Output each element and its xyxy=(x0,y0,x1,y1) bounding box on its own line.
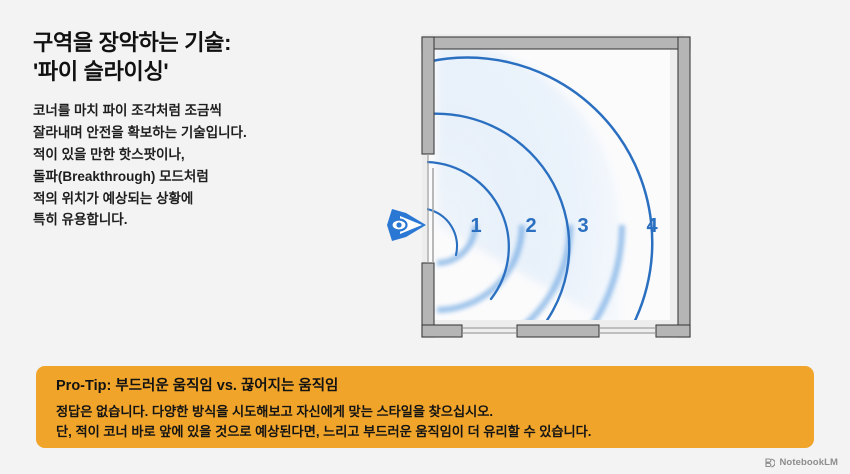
eye-pupil-icon xyxy=(396,222,401,227)
wall-bottom-right xyxy=(656,325,690,337)
pro-tip-label: Pro-Tip: xyxy=(56,378,111,394)
notebooklm-watermark: NotebookLM xyxy=(765,457,838,468)
pro-tip-body: 정답은 없습니다. 다양한 방식을 시도해보고 자신에게 맞는 스타일을 찾으십… xyxy=(56,402,794,442)
pro-tip-title: Pro-Tip: 부드러운 움직임 vs. 끊어지는 움직임 xyxy=(56,377,794,396)
wall-right xyxy=(678,37,690,337)
notebooklm-logo-icon xyxy=(765,458,775,468)
wall-bottom-left-stub xyxy=(422,325,462,337)
wall-top xyxy=(422,37,690,49)
slice-label-2: 2 xyxy=(525,215,536,237)
pie-slicing-diagram: 1 2 3 4 xyxy=(380,18,730,358)
body-paragraph: 코너를 마치 파이 조각처럼 조금씩 잘라내며 안전을 확보하는 기술입니다. … xyxy=(33,100,363,231)
notebooklm-label: NotebookLM xyxy=(779,457,838,468)
pro-tip-subject: 부드러운 움직임 vs. 끊어지는 움직임 xyxy=(111,378,338,394)
page-title: 구역을 장악하는 기술: '파이 슬라이싱' xyxy=(33,28,363,86)
slice-label-4: 4 xyxy=(646,215,658,237)
wall-bottom-center xyxy=(517,325,599,337)
slide-canvas: 구역을 장악하는 기술: '파이 슬라이싱' 코너를 마치 파이 조각처럼 조금… xyxy=(0,0,850,474)
pro-tip-banner: Pro-Tip: 부드러운 움직임 vs. 끊어지는 움직임 정답은 없습니다.… xyxy=(36,366,814,448)
player-eye-marker xyxy=(387,209,426,241)
wall-left-upper xyxy=(422,37,434,154)
slice-label-3: 3 xyxy=(577,215,588,237)
text-column: 구역을 장악하는 기술: '파이 슬라이싱' 코너를 마치 파이 조각처럼 조금… xyxy=(33,28,363,231)
slice-label-1: 1 xyxy=(470,215,481,237)
